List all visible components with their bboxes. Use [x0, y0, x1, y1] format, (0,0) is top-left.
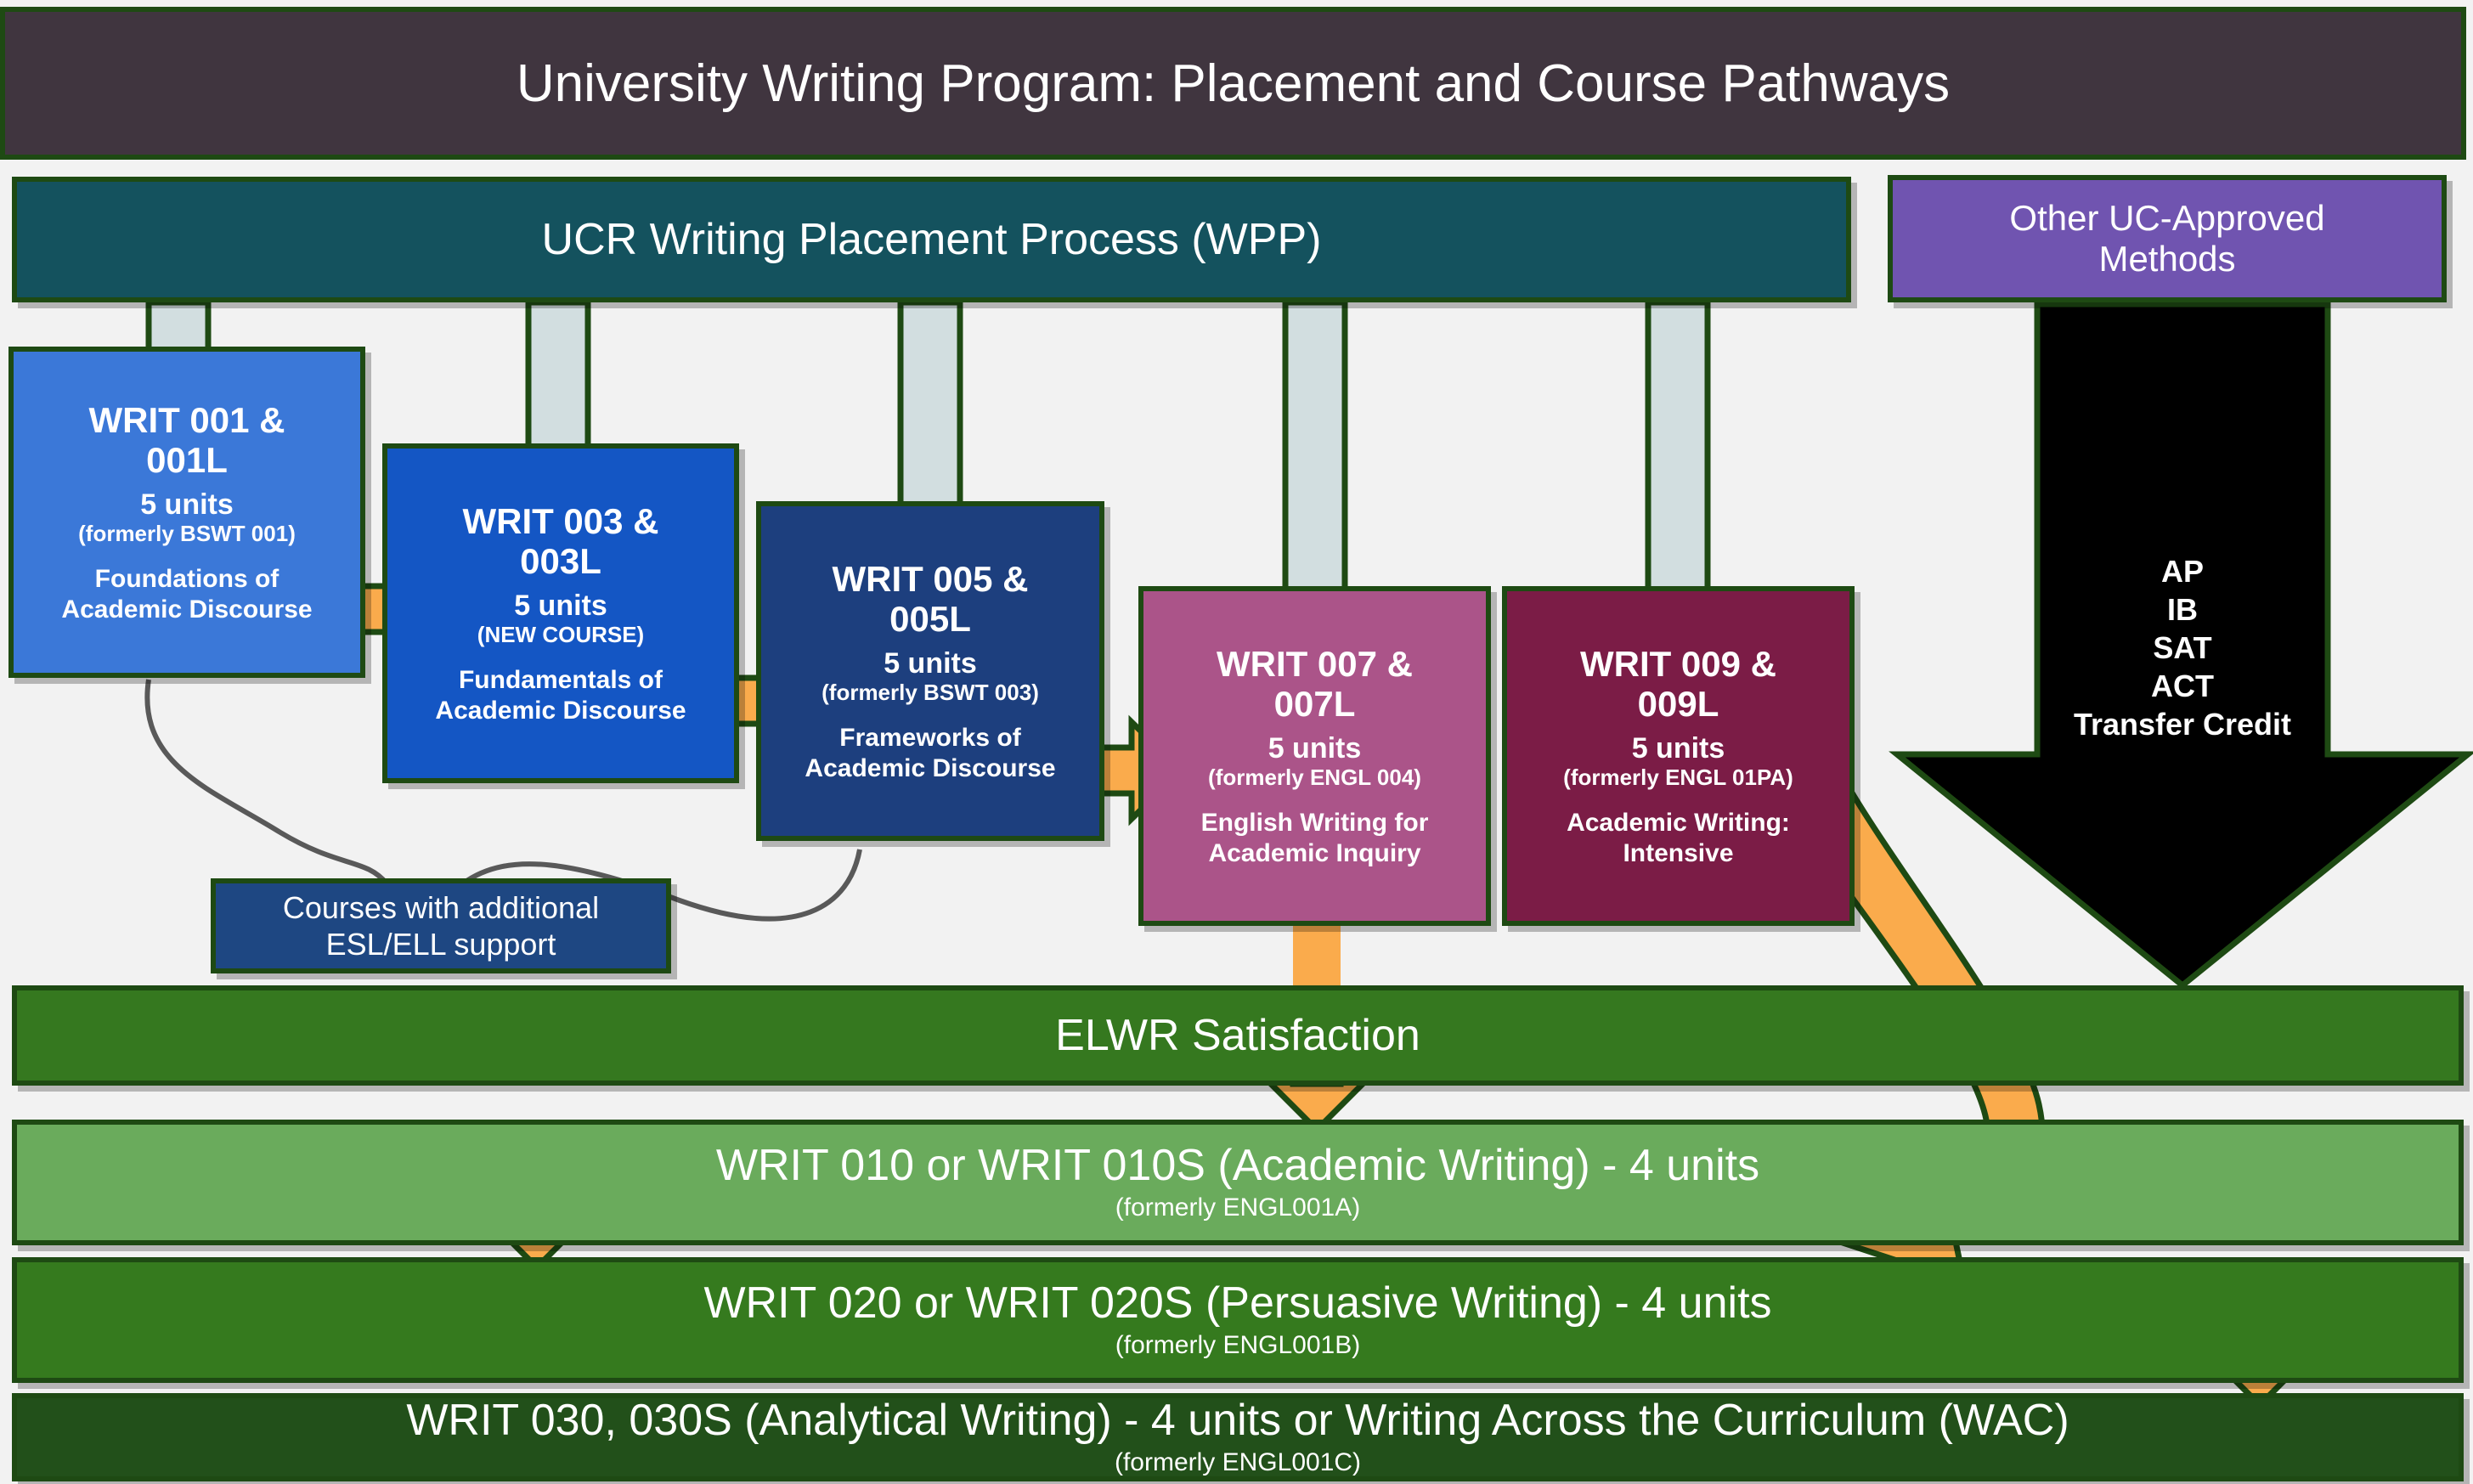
course-former-code: (formerly BSWT 001) — [78, 522, 296, 546]
course-box-writ-005[interactable]: WRIT 005 & 005L 5 units (formerly BSWT 0… — [756, 501, 1104, 841]
band-main-label: ELWR Satisfaction — [1055, 1013, 1420, 1059]
course-units: 5 units — [514, 590, 607, 623]
course-code: WRIT 005 & 005L — [832, 559, 1028, 639]
course-subtitle: Foundations of Academic Discourse — [61, 564, 312, 624]
course-code: WRIT 007 & 007L — [1217, 644, 1413, 724]
diagram-canvas: University Writing Program: Placement an… — [0, 0, 2473, 1484]
course-subtitle: Fundamentals of Academic Discourse — [435, 665, 686, 725]
course-units: 5 units — [1268, 732, 1362, 765]
band-sub-label: (formerly ENGL001A) — [1115, 1193, 1360, 1222]
course-code: WRIT 003 & 003L — [462, 501, 658, 581]
course-box-writ-003[interactable]: WRIT 003 & 003L 5 units (NEW COURSE) Fun… — [382, 443, 739, 783]
writ-030-band[interactable]: WRIT 030, 030S (Analytical Writing) - 4 … — [12, 1393, 2464, 1481]
course-code: WRIT 009 & 009L — [1580, 644, 1776, 724]
other-methods-label: Other UC-Approved Methods — [2009, 198, 2324, 280]
band-main-label: WRIT 020 or WRIT 020S (Persuasive Writin… — [703, 1280, 1771, 1327]
course-units: 5 units — [1632, 732, 1725, 765]
band-main-label: WRIT 030, 030S (Analytical Writing) - 4 … — [406, 1397, 2069, 1444]
course-former-code: (NEW COURSE) — [477, 623, 644, 647]
band-sub-label: (formerly ENGL001C) — [1115, 1448, 1361, 1477]
wpp-band: UCR Writing Placement Process (WPP) — [12, 177, 1851, 302]
course-code: WRIT 001 & 001L — [88, 400, 285, 480]
band-sub-label: (formerly ENGL001B) — [1115, 1331, 1360, 1360]
course-former-code: (formerly BSWT 003) — [822, 680, 1039, 705]
course-former-code: (formerly ENGL 01PA) — [1563, 765, 1793, 790]
page-title-text: University Writing Program: Placement an… — [517, 54, 1950, 114]
course-box-writ-007[interactable]: WRIT 007 & 007L 5 units (formerly ENGL 0… — [1138, 586, 1491, 926]
other-methods-items: AP IB SAT ACT Transfer Credit — [2037, 552, 2328, 743]
course-units: 5 units — [884, 647, 977, 680]
other-uc-approved-methods-box: Other UC-Approved Methods — [1888, 175, 2447, 302]
course-subtitle: Academic Writing: Intensive — [1567, 808, 1790, 868]
course-former-code: (formerly ENGL 004) — [1208, 765, 1421, 790]
course-box-writ-009[interactable]: WRIT 009 & 009L 5 units (formerly ENGL 0… — [1502, 586, 1855, 926]
course-subtitle: English Writing for Academic Inquiry — [1201, 808, 1429, 868]
course-box-writ-001[interactable]: WRIT 001 & 001L 5 units (formerly BSWT 0… — [8, 347, 365, 678]
esl-support-note: Courses with additional ESL/ELL support — [211, 878, 671, 973]
writ-020-band[interactable]: WRIT 020 or WRIT 020S (Persuasive Writin… — [12, 1257, 2464, 1383]
page-title: University Writing Program: Placement an… — [0, 7, 2466, 160]
band-main-label: WRIT 010 or WRIT 010S (Academic Writing)… — [716, 1143, 1759, 1189]
elwr-satisfaction-band: ELWR Satisfaction — [12, 985, 2464, 1086]
writ-010-band[interactable]: WRIT 010 or WRIT 010S (Academic Writing)… — [12, 1120, 2464, 1245]
course-units: 5 units — [140, 488, 234, 522]
wpp-label: UCR Writing Placement Process (WPP) — [542, 214, 1322, 265]
esl-support-label: Courses with additional ESL/ELL support — [283, 889, 599, 962]
course-subtitle: Frameworks of Academic Discourse — [805, 723, 1055, 783]
